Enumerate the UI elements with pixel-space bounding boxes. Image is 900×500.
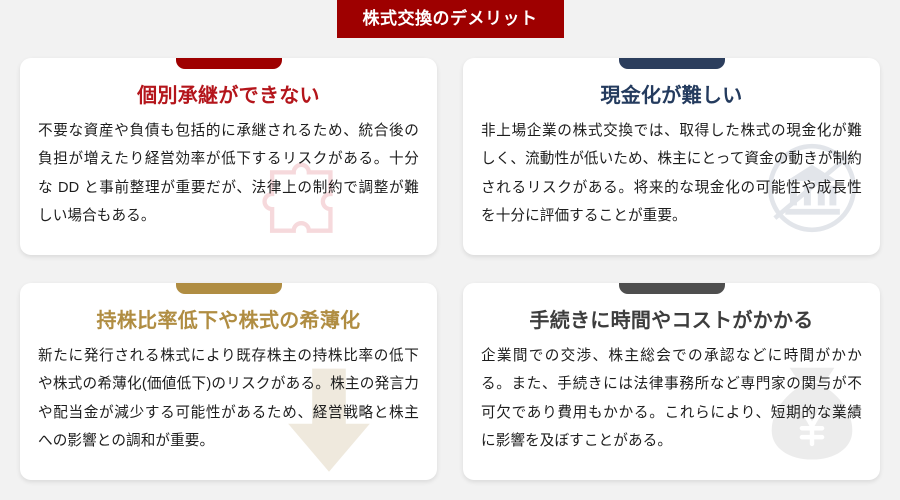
card-title: 持株比率低下や株式の希薄化 <box>38 309 419 333</box>
card-top-tab <box>619 283 725 294</box>
card-tetsuzuki-cost[interactable]: 手続きに時間やコストがかかる 企業間での交渉、株主総会での承認などに時間がかかる… <box>463 283 880 480</box>
card-genkinka[interactable]: 現金化が難しい 非上場企業の株式交換では、取得した株式の現金化が難しく、流動性が… <box>463 58 880 255</box>
card-mochikabu-hiritsu[interactable]: 持株比率低下や株式の希薄化 新たに発行される株式により既存株主の持株比率の低下や… <box>20 283 437 480</box>
page-title-badge: 株式交換のデメリット <box>337 0 564 38</box>
header-badge-container: 株式交換のデメリット <box>0 0 900 48</box>
card-title: 現金化が難しい <box>481 84 862 108</box>
card-body-text: 新たに発行される株式により既存株主の持株比率の低下や株式の希薄化(価値低下)のリ… <box>38 342 419 456</box>
demerit-card-grid: 個別承継ができない 不要な資産や負債も包括的に承継されるため、統合後の負担が増え… <box>20 58 880 486</box>
card-top-tab <box>176 283 282 294</box>
card-top-tab <box>176 58 282 69</box>
card-top-tab <box>619 58 725 69</box>
card-title: 個別承継ができない <box>38 84 419 108</box>
card-body-text: 非上場企業の株式交換では、取得した株式の現金化が難しく、流動性が低いため、株主に… <box>481 117 862 231</box>
card-body-text: 企業間での交渉、株主総会での承認などに時間がかかる。また、手続きには法律事務所な… <box>481 342 862 456</box>
card-kobetsu-shokei[interactable]: 個別承継ができない 不要な資産や負債も包括的に承継されるため、統合後の負担が増え… <box>20 58 437 255</box>
card-title: 手続きに時間やコストがかかる <box>481 309 862 333</box>
card-body-text: 不要な資産や負債も包括的に承継されるため、統合後の負担が増えたり経営効率が低下す… <box>38 117 419 231</box>
